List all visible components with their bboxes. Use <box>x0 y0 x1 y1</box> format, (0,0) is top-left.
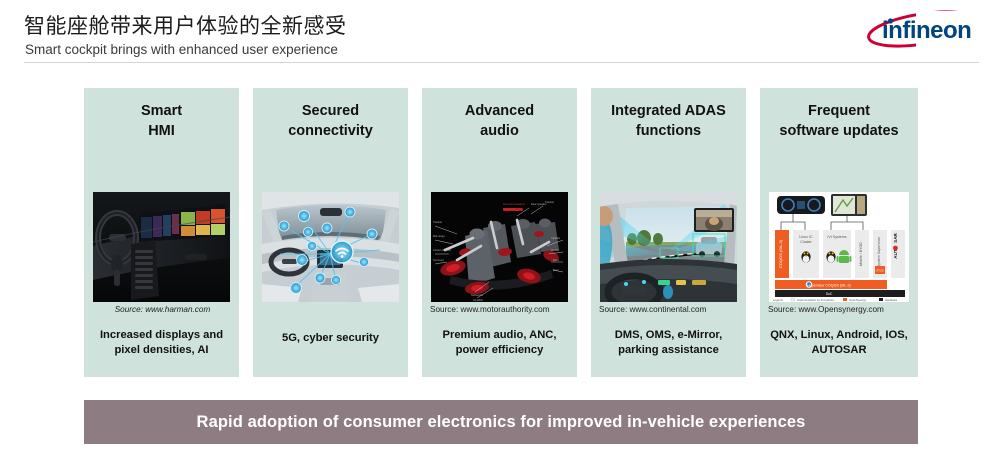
svg-text:Tweeter: Tweeter <box>545 200 554 204</box>
feature-card-row: Smart HMI <box>84 88 918 377</box>
header-divider <box>24 62 979 63</box>
card-title: Integrated ADAS functions <box>595 101 742 141</box>
svg-text:Subwoofer: Subwoofer <box>471 293 484 297</box>
svg-text:Hardware: Hardware <box>885 298 898 302</box>
page-subtitle-english: Smart cockpit brings with enhanced user … <box>25 42 338 57</box>
svg-text:IVI Systems: IVI Systems <box>827 235 846 239</box>
svg-text:infineon: infineon <box>882 17 971 44</box>
svg-text:SAR: SAR <box>893 232 898 242</box>
svg-text:Hypervisor COQOS (SIL-3): Hypervisor COQOS (SIL-3) <box>807 283 851 287</box>
feature-card-integrated-adas[interactable]: Integrated ADAS functions <box>591 88 746 377</box>
svg-text:Legend:: Legend: <box>773 298 783 302</box>
card-title-line1: Smart <box>88 101 235 121</box>
card-caption: Premium audio, ANC, power efficiency <box>426 328 573 358</box>
svg-text:System Supervisor: System Supervisor <box>877 236 881 267</box>
card-title-line1: Frequent <box>764 101 914 121</box>
card-caption: 5G, cyber security <box>257 331 404 346</box>
summary-banner: Rapid adoption of consumer electronics f… <box>84 400 918 444</box>
card-image-secured-connectivity <box>262 192 399 302</box>
svg-text:Satellite: Satellite <box>551 236 561 240</box>
svg-text:Implementation by 3rd parties: Implementation by 3rd parties <box>797 298 834 302</box>
svg-text:Bass: Bass <box>553 258 559 262</box>
svg-text:Center channel: Center channel <box>433 248 451 252</box>
card-title: Frequent software updates <box>764 101 914 141</box>
card-caption: QNX, Linux, Android, IOS, AUTOSAR <box>764 328 914 358</box>
card-title-line2: connectivity <box>257 121 404 141</box>
svg-text:Cluster: Cluster <box>800 240 812 244</box>
feature-card-frequent-software-updates[interactable]: Frequent software updates <box>760 88 918 377</box>
card-title-line2: HMI <box>88 121 235 141</box>
card-title-line1: Integrated ADAS <box>595 101 742 121</box>
card-title-line2: audio <box>426 121 573 141</box>
page-title-chinese: 智能座舱带来用户体验的全新感受 <box>24 10 347 40</box>
svg-text:COQOS (SIL-3): COQOS (SIL-3) <box>778 239 783 268</box>
infineon-logo: infineon <box>862 8 982 50</box>
card-source: Source: www.motorauthority.com <box>430 305 571 315</box>
summary-banner-text: Rapid adoption of consumer electronics f… <box>197 413 806 432</box>
svg-text:Amplifier: Amplifier <box>473 298 483 302</box>
card-title-line1: Secured <box>257 101 404 121</box>
svg-text:SoC: SoC <box>826 292 833 296</box>
feature-card-secured-connectivity[interactable]: Secured connectivity <box>253 88 408 377</box>
svg-text:Door: Door <box>553 268 559 272</box>
svg-text:Tweeter: Tweeter <box>433 220 442 224</box>
svg-text:OpenSynergy: OpenSynergy <box>849 298 867 302</box>
card-source: Source: www.harman.com <box>92 305 233 315</box>
card-image-advanced-audio: Tweeter Mid-range Center channel Surroun… <box>431 192 568 302</box>
svg-text:Mobile / BYOD: Mobile / BYOD <box>859 242 863 266</box>
hypervisor-architecture-diagram: COQOS (SIL-3) Linux IC Cluster IVI Syste… <box>769 192 909 302</box>
card-source: Source: www.continental.com <box>599 305 740 315</box>
svg-text:AUT: AUT <box>893 249 898 259</box>
svg-text:Woofer: Woofer <box>551 248 559 252</box>
adas-driver-view-illustration <box>600 192 737 302</box>
card-image-integrated-adas <box>600 192 737 302</box>
feature-card-advanced-audio[interactable]: Advanced audio <box>422 88 577 377</box>
card-title: Secured connectivity <box>257 101 404 141</box>
card-title: Advanced audio <box>426 101 573 141</box>
slide-header: 智能座舱带来用户体验的全新感受 Smart cockpit brings wit… <box>0 0 1000 64</box>
svg-text:Surround speakers: Surround speakers <box>503 202 526 206</box>
card-title-line1: Advanced <box>426 101 573 121</box>
card-title: Smart HMI <box>88 101 235 141</box>
card-title-line2: functions <box>595 121 742 141</box>
card-image-software-architecture: COQOS (SIL-3) Linux IC Cluster IVI Syste… <box>769 192 909 302</box>
connected-car-interior-illustration <box>262 192 399 302</box>
card-image-smart-hmi <box>93 192 230 302</box>
svg-text:Surround: Surround <box>433 258 444 262</box>
car-cockpit-display-illustration <box>93 192 230 302</box>
card-source: Source: www.Opensynergy.com <box>768 305 912 315</box>
svg-text:Mid-range: Mid-range <box>433 234 445 238</box>
card-title-line2: software updates <box>764 121 914 141</box>
card-caption: Increased displays and pixel densities, … <box>88 328 235 358</box>
feature-card-smart-hmi[interactable]: Smart HMI <box>84 88 239 377</box>
svg-text:RTOS: RTOS <box>876 268 883 272</box>
svg-text:Linux IC: Linux IC <box>799 235 813 239</box>
card-caption: DMS, OMS, e-Mirror, parking assistance <box>595 328 742 358</box>
car-seats-speaker-cutaway-illustration: Tweeter Mid-range Center channel Surroun… <box>431 192 568 302</box>
svg-text:Subwoofer: Subwoofer <box>503 207 516 211</box>
infineon-logo-icon: infineon <box>862 8 982 50</box>
